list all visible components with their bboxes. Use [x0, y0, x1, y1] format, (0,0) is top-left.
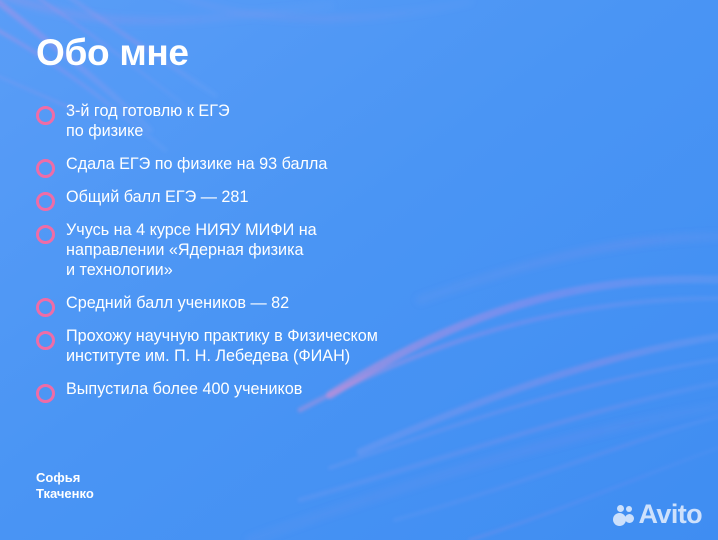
list-item: Общий балл ЕГЭ — 281	[36, 187, 596, 207]
list-item: 3-й год готовлю к ЕГЭ по физике	[36, 101, 596, 141]
page-title: Обо мне	[36, 34, 189, 73]
list-item-label: Прохожу научную практику в Физическом ин…	[66, 326, 596, 366]
list-item-label: Учусь на 4 курсе НИЯУ МИФИ на направлени…	[66, 220, 596, 280]
slide-canvas: Обо мне 3-й год готовлю к ЕГЭ по физике …	[0, 0, 718, 540]
ring-bullet-icon	[36, 225, 55, 244]
list-item-label: Общий балл ЕГЭ — 281	[66, 187, 596, 207]
ring-bullet-icon	[36, 192, 55, 211]
list-item-label: 3-й год готовлю к ЕГЭ по физике	[66, 101, 596, 141]
list-item-label: Сдала ЕГЭ по физике на 93 балла	[66, 154, 596, 174]
list-item: Прохожу научную практику в Физическом ин…	[36, 326, 596, 366]
avito-wordmark: Avito	[639, 501, 703, 528]
avito-watermark: Avito	[613, 501, 703, 528]
ring-bullet-icon	[36, 159, 55, 178]
ring-bullet-icon	[36, 331, 55, 350]
list-item: Учусь на 4 курсе НИЯУ МИФИ на направлени…	[36, 220, 596, 280]
slide-content: Обо мне 3-й год готовлю к ЕГЭ по физике …	[0, 0, 718, 540]
list-item-label: Выпустила более 400 учеников	[66, 379, 596, 399]
ring-bullet-icon	[36, 298, 55, 317]
avito-dots-icon	[613, 504, 636, 526]
ring-bullet-icon	[36, 106, 55, 125]
list-item: Средний балл учеников — 82	[36, 293, 596, 313]
list-item: Выпустила более 400 учеников	[36, 379, 596, 399]
author-name: Софья Ткаченко	[36, 470, 94, 501]
list-item: Сдала ЕГЭ по физике на 93 балла	[36, 154, 596, 174]
list-item-label: Средний балл учеников — 82	[66, 293, 596, 313]
ring-bullet-icon	[36, 384, 55, 403]
about-bullet-list: 3-й год готовлю к ЕГЭ по физике Сдала ЕГ…	[36, 101, 596, 412]
